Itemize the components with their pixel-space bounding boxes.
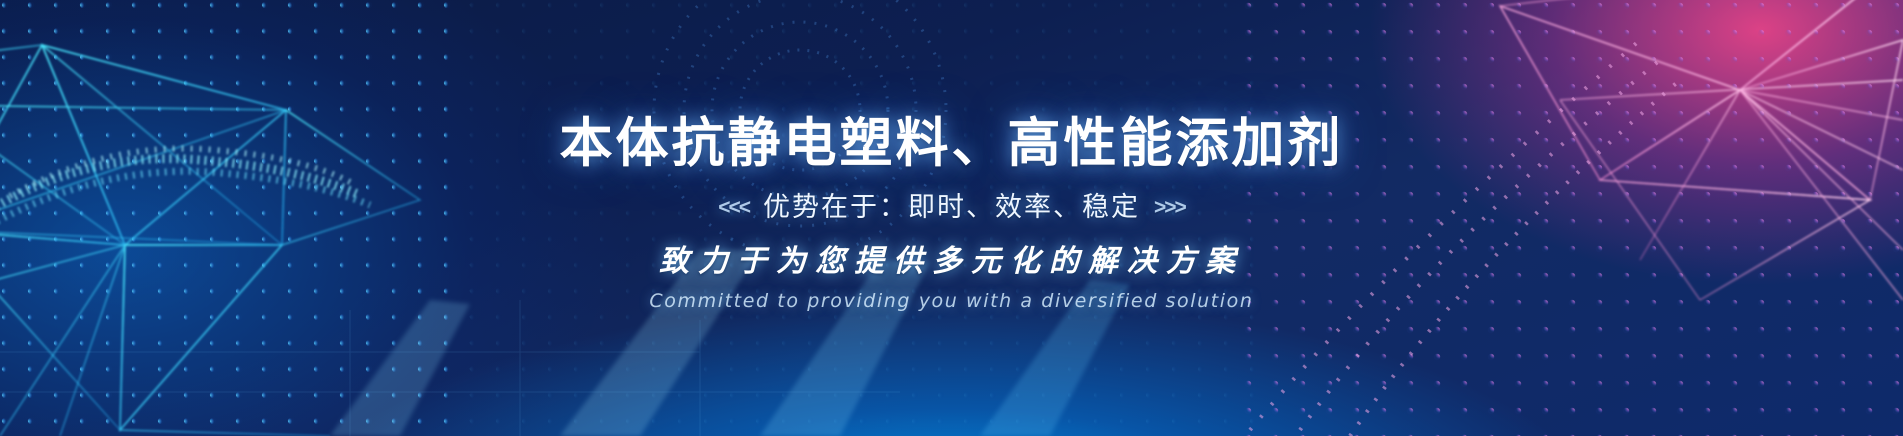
hero-banner: 本体抗静电塑料、高性能添加剂 <<< 优势在于：即时、效率、稳定 >>> 致力于…	[0, 0, 1903, 436]
background-decoration	[0, 0, 1903, 436]
right-dot-field	[1230, 0, 1903, 436]
